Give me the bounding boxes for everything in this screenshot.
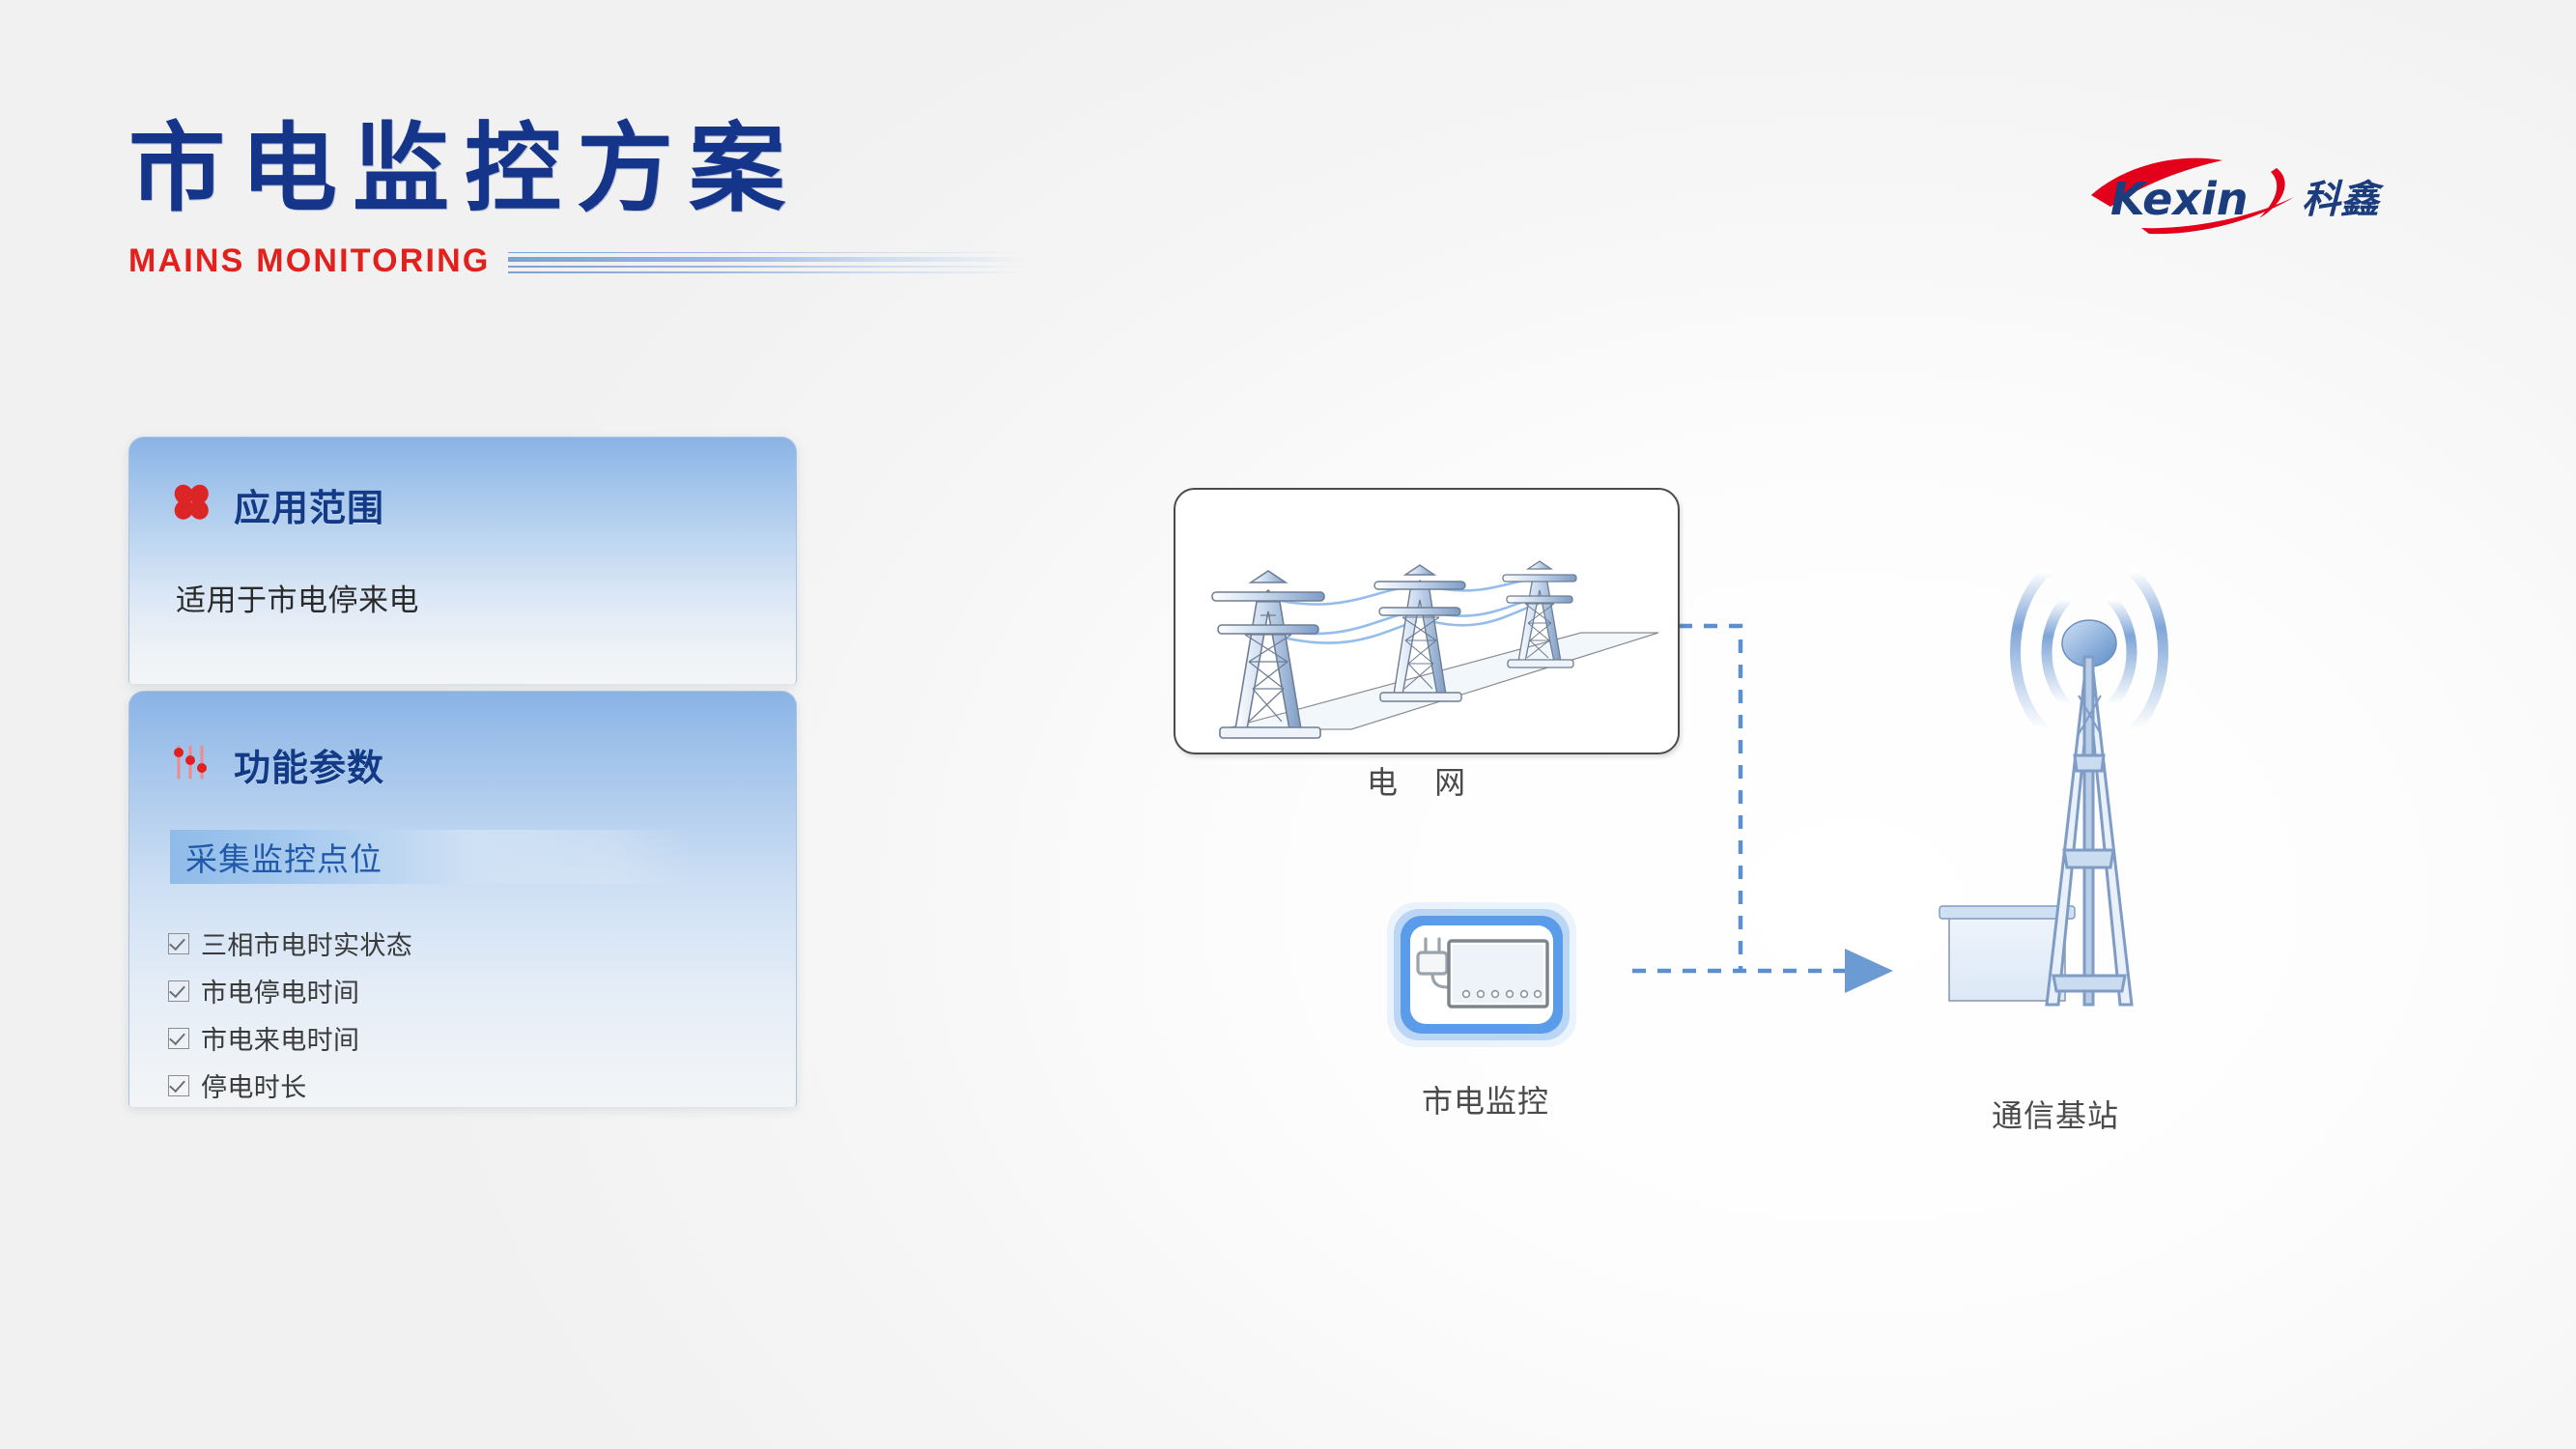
subheading-label: 采集监控点位	[170, 834, 382, 880]
base-station-illustration	[1932, 522, 2260, 1072]
page-title: 市电监控方案	[128, 121, 1288, 217]
base-station-caption: 通信基站	[1992, 1092, 2119, 1136]
logo-latin-text: Kexin	[2110, 173, 2249, 225]
checkbox-checked-icon[interactable]	[168, 980, 189, 1002]
logo-cjk-text: 科鑫	[2302, 178, 2385, 222]
page-subtitle: MAINS MONITORING	[128, 242, 491, 280]
list-item[interactable]: 三相市电时实状态	[168, 924, 796, 962]
list-item-label: 市电停电时间	[201, 972, 359, 1009]
checkbox-checked-icon[interactable]	[168, 1075, 189, 1096]
card-scope-title: 应用范围	[234, 478, 384, 531]
slide-canvas: 市电监控方案 MAINS MONITORING Kexin 科鑫	[0, 0, 2576, 1449]
list-item-label: 三相市电时实状态	[201, 924, 412, 962]
power-grid-illustration-box	[1174, 488, 1680, 754]
subtitle-row: MAINS MONITORING	[128, 242, 1288, 280]
card-params-title: 功能参数	[234, 738, 384, 791]
decorative-lines	[508, 250, 1030, 273]
list-item-label: 市电来电时间	[201, 1019, 359, 1057]
tower-structure	[2047, 657, 2132, 1005]
list-item[interactable]: 市电来电时间	[168, 1019, 796, 1057]
device-caption: 市电监控	[1422, 1077, 1549, 1122]
card-function-parameters[interactable]: 功能参数 采集监控点位 三相市电时实状态 市电停电时间 市电来电时间 停电时长	[128, 691, 797, 1107]
page-header: 市电监控方案 MAINS MONITORING	[128, 121, 1288, 280]
card-scope-body: 适用于市电停来电	[176, 576, 796, 619]
connector-device-to-base	[1632, 949, 1893, 993]
card-params-header: 功能参数	[129, 692, 796, 791]
list-item[interactable]: 停电时长	[168, 1066, 796, 1104]
list-item-label: 停电时长	[201, 1066, 307, 1104]
list-item[interactable]: 市电停电时间	[168, 972, 796, 1009]
card-params-subheading: 采集监控点位	[170, 830, 692, 884]
checkbox-checked-icon[interactable]	[168, 1028, 189, 1049]
card-application-scope[interactable]: 应用范围 适用于市电停来电	[128, 437, 797, 684]
grid-caption: 电 网	[1367, 758, 1479, 803]
monitoring-points-list: 三相市电时实状态 市电停电时间 市电来电时间 停电时长	[168, 924, 796, 1104]
arrow-head-icon	[1845, 949, 1893, 993]
mains-monitor-device-icon	[1381, 896, 1628, 1056]
slider-equalizer-icon	[170, 741, 212, 788]
kexin-logo: Kexin 科鑫	[2087, 155, 2406, 238]
power-grid-towers-icon	[1175, 490, 1674, 749]
device-display	[1449, 941, 1547, 1007]
four-petal-flower-icon	[170, 481, 212, 528]
card-scope-header: 应用范围	[129, 438, 796, 531]
checkbox-checked-icon[interactable]	[168, 933, 189, 954]
connector-grid-to-base	[1679, 626, 1741, 971]
